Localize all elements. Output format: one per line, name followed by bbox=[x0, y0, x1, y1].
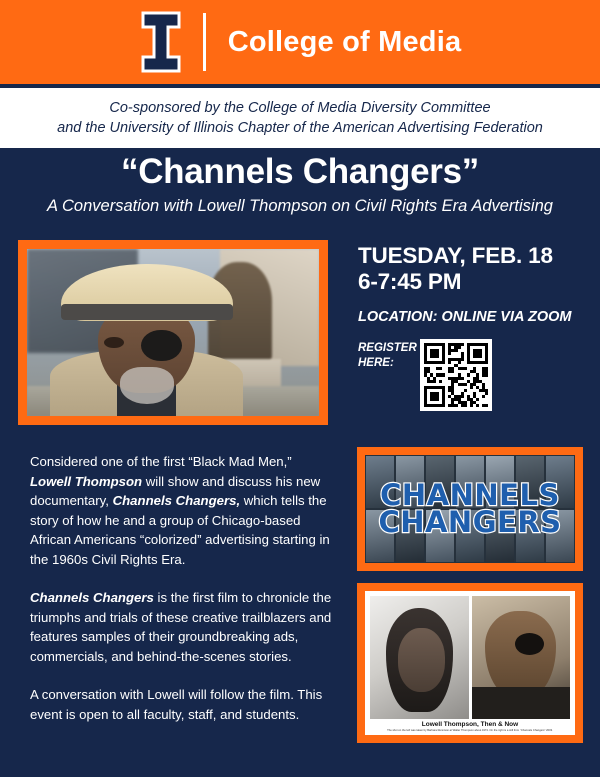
body-copy: Considered one of the first “Black Mad M… bbox=[30, 452, 335, 743]
page-title: “Channels Changers” bbox=[0, 152, 600, 192]
then-and-now-photos bbox=[370, 596, 570, 719]
film-title-card-frame: CHANNELS CHANGERS bbox=[357, 447, 583, 571]
film-title-line-2: CHANGERS bbox=[378, 509, 561, 536]
sponsor-band: Co-sponsored by the College of Media Div… bbox=[0, 88, 600, 148]
brand-lockup: College of Media bbox=[139, 11, 462, 73]
event-date: TUESDAY, FEB. 18 bbox=[358, 243, 586, 269]
speaker-portrait-photo bbox=[27, 249, 319, 416]
p1-emphasis-speaker: Lowell Thompson bbox=[30, 474, 142, 489]
header-title: College of Media bbox=[228, 26, 462, 59]
sponsor-line-1: Co-sponsored by the College of Media Div… bbox=[109, 98, 490, 118]
sponsor-line-2: and the University of Illinois Chapter o… bbox=[57, 118, 543, 138]
p1-emphasis-film: Channels Changers, bbox=[113, 493, 241, 508]
page-subtitle: A Conversation with Lowell Thompson on C… bbox=[0, 195, 600, 217]
photo-now bbox=[472, 596, 571, 719]
photo-then-face bbox=[398, 628, 445, 692]
then-and-now-caption: Lowell Thompson, Then & Now bbox=[370, 721, 570, 728]
film-title-card: CHANNELS CHANGERS bbox=[365, 455, 575, 563]
title-block: “Channels Changers” A Conversation with … bbox=[0, 152, 600, 217]
photo-person-beard bbox=[120, 367, 174, 404]
body-paragraph-2: Channels Changers is the first film to c… bbox=[30, 588, 335, 666]
qr-code-matrix bbox=[424, 343, 488, 407]
event-details: TUESDAY, FEB. 18 6-7:45 PM LOCATION: ONL… bbox=[358, 243, 586, 411]
then-and-now-fineprint: The shot on the left was taken by Barbar… bbox=[370, 729, 570, 732]
illinois-block-i-icon bbox=[139, 11, 183, 73]
event-location: LOCATION: ONLINE VIA ZOOM bbox=[358, 309, 586, 325]
film-title-text: CHANNELS CHANGERS bbox=[378, 482, 561, 535]
speaker-portrait-frame bbox=[18, 240, 328, 425]
photo-person-hat-band bbox=[61, 304, 233, 320]
event-poster: College of Media Co-sponsored by the Col… bbox=[0, 0, 600, 777]
photo-person bbox=[80, 272, 214, 416]
then-and-now-frame: Lowell Thompson, Then & Now The shot on … bbox=[357, 583, 583, 743]
header-band: College of Media bbox=[0, 0, 600, 84]
register-row: REGISTER HERE: bbox=[358, 339, 586, 411]
body-paragraph-3: A conversation with Lowell will follow t… bbox=[30, 685, 335, 724]
brand-divider bbox=[203, 13, 206, 71]
photo-now-suit bbox=[472, 687, 571, 719]
body-paragraph-1: Considered one of the first “Black Mad M… bbox=[30, 452, 335, 569]
registration-qr-code[interactable] bbox=[420, 339, 492, 411]
photo-now-face bbox=[485, 611, 556, 697]
then-and-now-card: Lowell Thompson, Then & Now The shot on … bbox=[365, 591, 575, 735]
p1-text-1: Considered one of the first “Black Mad M… bbox=[30, 454, 292, 469]
register-label: REGISTER HERE: bbox=[358, 339, 420, 371]
event-time: 6-7:45 PM bbox=[358, 269, 586, 295]
p2-emphasis-film: Channels Changers bbox=[30, 590, 154, 605]
photo-then bbox=[370, 596, 469, 719]
photo-person-eye-patch bbox=[141, 330, 181, 362]
